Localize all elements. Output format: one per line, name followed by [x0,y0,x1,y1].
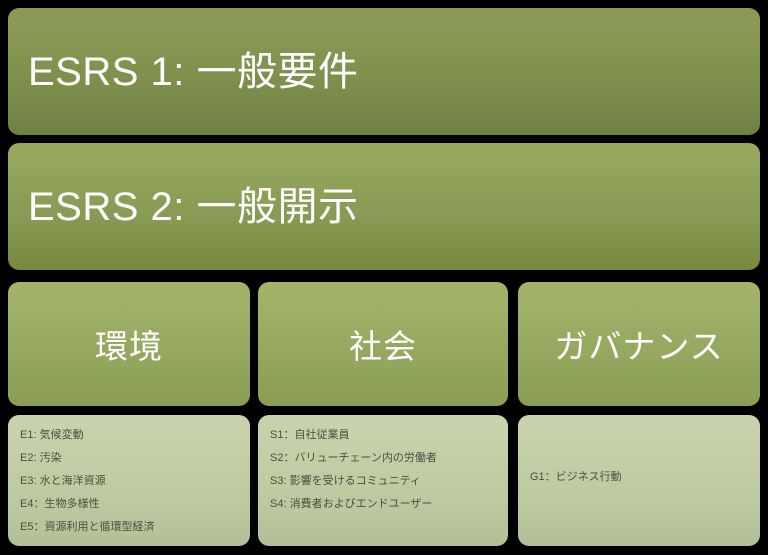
pillar-header-social-label: 社会 [349,320,417,368]
pillar-header-environment-label: 環境 [95,320,163,368]
pillar-header-environment[interactable]: 環境 [8,282,250,406]
list-item[interactable]: E5：資源利用と循環型経済 [18,516,240,539]
topic-list-social: S1：自社従業員 S2：バリューチェーン内の労働者 S3: 影響を受けるコミュニ… [258,415,508,546]
list-item[interactable]: G1：ビジネス行動 [528,466,750,489]
list-item[interactable]: E3: 水と海洋資源 [18,470,240,493]
pillar-header-social[interactable]: 社会 [258,282,508,406]
esrs-2-banner[interactable]: ESRS 2: 一般開示 [8,143,760,270]
topic-list-environment: E1: 気候変動 E2: 汚染 E3: 水と海洋資源 E4：生物多様性 E5：資… [8,415,250,546]
esrs-1-banner[interactable]: ESRS 1: 一般要件 [8,8,760,135]
esrs-structure-diagram: ESRS 1: 一般要件 ESRS 2: 一般開示 環境 社会 ガバナンス E1… [0,0,768,555]
esrs-2-label: ESRS 2: 一般開示 [8,185,359,229]
topic-list-social-items: S1：自社従業員 S2：バリューチェーン内の労働者 S3: 影響を受けるコミュニ… [268,424,498,516]
list-item[interactable]: E4：生物多様性 [18,493,240,516]
topic-list-environment-items: E1: 気候変動 E2: 汚染 E3: 水と海洋資源 E4：生物多様性 E5：資… [18,424,240,539]
list-item[interactable]: S3: 影響を受けるコミュニティ [268,470,498,493]
esrs-1-label: ESRS 1: 一般要件 [8,50,359,94]
pillar-header-governance[interactable]: ガバナンス [518,282,760,406]
list-item[interactable]: E1: 気候変動 [18,424,240,447]
list-item[interactable]: S2：バリューチェーン内の労働者 [268,447,498,470]
list-item[interactable]: S4: 消費者およびエンドユーザー [268,493,498,516]
topic-list-governance-items: G1：ビジネス行動 [528,424,750,489]
list-item[interactable]: E2: 汚染 [18,447,240,470]
topic-list-governance: G1：ビジネス行動 [518,415,760,546]
pillar-header-governance-label: ガバナンス [554,320,723,368]
list-item[interactable]: S1：自社従業員 [268,424,498,447]
